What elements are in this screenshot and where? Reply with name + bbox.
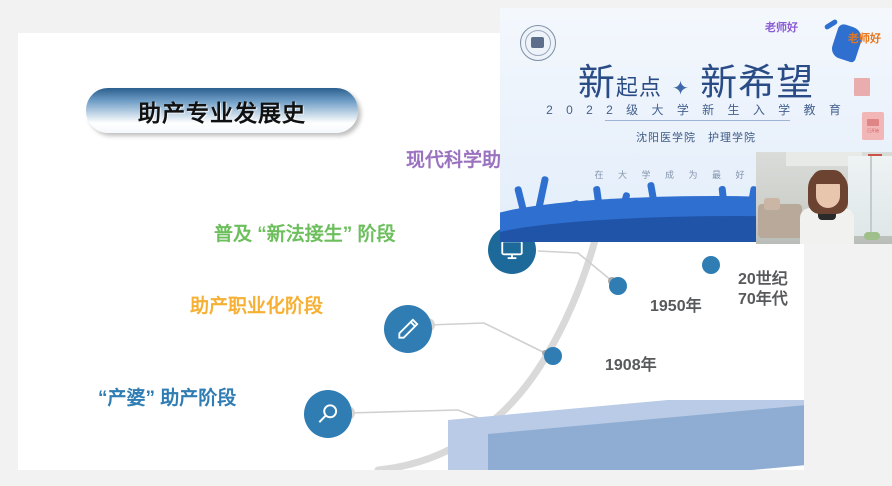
danmaku-comment: 老师好 (765, 19, 798, 35)
overlay-divider (605, 120, 790, 121)
overlay-title: 新起点 ✦ 新希望 (500, 52, 892, 106)
slide-title-banner: 助产专业发展史 (86, 88, 358, 133)
timeline-label-20c: 20世纪 70年代 (738, 270, 788, 310)
overlay-organization: 沈阳医学院 护理学院 (500, 129, 892, 145)
pip-person-fringe (812, 170, 844, 184)
overlay-title-char1: 新 (578, 63, 616, 104)
timeline-label-1950: 1950年 (650, 292, 702, 316)
overlay-title-char2: 起 (616, 75, 639, 100)
overlay-title-char3: 点 (639, 75, 662, 100)
timeline-label-20c-line1: 20世纪 (738, 270, 788, 290)
screen: 助产专业发展史 现代科学助 普及 “新法接生” 阶段 助产职业化阶段 “产婆” … (0, 0, 892, 486)
timeline-label-1908: 1908年 (605, 351, 657, 375)
connector-line-2 (428, 323, 545, 353)
badge-shape (867, 119, 879, 126)
timeline-dot-1908 (544, 347, 562, 365)
overlay-title-char4: 新 (700, 63, 738, 104)
video-pip[interactable] (756, 152, 892, 244)
overlay-subtitle: 2 0 2 2 级 大 学 新 生 入 学 教 育 (500, 101, 892, 118)
stage-label-profession: 助产职业化阶段 (190, 291, 323, 318)
bottom-bar (0, 472, 892, 486)
danmaku-comment: 老师好 (848, 30, 881, 46)
badge-label: 已开始 (867, 128, 879, 134)
pip-plant (864, 232, 880, 240)
pip-cushion (764, 198, 780, 210)
timeline-label-20c-line2: 70年代 (738, 290, 788, 310)
pip-window-frame (870, 156, 872, 236)
overlay-title-char6: 望 (776, 63, 814, 104)
slide-footer-decoration (18, 400, 804, 470)
overlay-title-char5: 希 (738, 63, 776, 104)
decorative-flag (854, 78, 870, 96)
status-badge: 已开始 (862, 112, 884, 140)
slide-title: 助产专业发展史 (138, 94, 306, 128)
stage-label-newmethod: 普及 “新法接生” 阶段 (214, 219, 396, 246)
stage-label-modern: 现代科学助 (406, 145, 501, 172)
connector-line-3 (538, 251, 612, 281)
diamond-icon: ✦ (672, 78, 690, 100)
timeline-dot-20c (702, 256, 720, 274)
pencil-icon (384, 305, 432, 353)
timeline-dot-1950 (609, 277, 627, 295)
